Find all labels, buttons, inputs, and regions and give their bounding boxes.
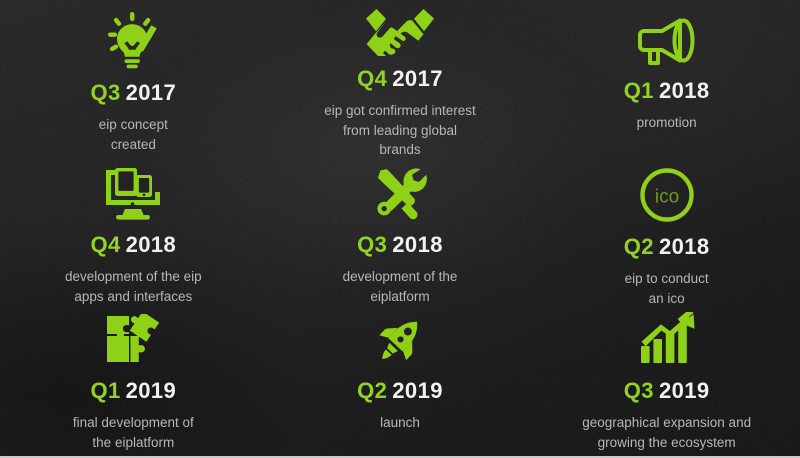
milestone-card[interactable]: Q42018 development of the eipapps and in… xyxy=(0,160,267,300)
quarter-code: Q4 xyxy=(90,232,120,257)
milestone-card[interactable]: Q42017 eip got confirmed interestfrom le… xyxy=(267,0,534,160)
quarter-year: 2019 xyxy=(126,378,177,403)
growth-chart-arrow-icon xyxy=(636,306,698,368)
quarter-year: 2017 xyxy=(126,80,177,105)
milestone-card[interactable]: Q32018 development of theeiplatform xyxy=(267,160,534,300)
milestone-quarter: Q32019 xyxy=(624,380,710,402)
milestone-quarter: Q32017 xyxy=(90,82,176,104)
quarter-code: Q4 xyxy=(357,66,387,91)
milestone-quarter: Q12019 xyxy=(90,380,176,402)
milestone-quarter: Q22019 xyxy=(357,380,443,402)
milestone-description: promotion xyxy=(637,113,697,133)
milestone-description: final development ofthe eiplatform xyxy=(73,413,194,452)
quarter-code: Q3 xyxy=(90,80,120,105)
milestone-quarter: Q22018 xyxy=(624,236,710,258)
milestone-description: geographical expansion andgrowing the ec… xyxy=(582,413,751,452)
quarter-year: 2018 xyxy=(659,78,710,103)
rocket-icon xyxy=(371,306,429,368)
milestone-card[interactable]: Q12019 final development ofthe eiplatfor… xyxy=(0,300,267,458)
milestone-quarter: Q12018 xyxy=(624,80,710,102)
quarter-year: 2018 xyxy=(392,232,443,257)
milestone-quarter: Q42017 xyxy=(357,68,443,90)
quarter-year: 2019 xyxy=(659,378,710,403)
handshake-icon xyxy=(363,2,437,56)
ico-circle-icon: ico xyxy=(638,166,696,224)
milestone-grid: Q32017 eip conceptcreated xyxy=(0,0,800,456)
milestone-quarter: Q32018 xyxy=(357,234,443,256)
lightbulb-pencil-icon xyxy=(102,8,164,70)
megaphone-icon xyxy=(634,6,700,68)
quarter-code: Q2 xyxy=(624,234,654,259)
milestone-description: launch xyxy=(380,413,420,433)
quarter-code: Q1 xyxy=(624,78,654,103)
quarter-code: Q1 xyxy=(90,378,120,403)
devices-monitor-icon xyxy=(102,166,164,222)
quarter-year: 2019 xyxy=(392,378,443,403)
quarter-code: Q2 xyxy=(357,378,387,403)
milestone-description: eip got confirmed interestfrom leading g… xyxy=(324,101,476,160)
milestone-card[interactable]: Q12018 promotion xyxy=(533,0,800,160)
milestone-card[interactable]: ico Q22018 eip to conductan ico xyxy=(533,160,800,300)
quarter-year: 2018 xyxy=(659,234,710,259)
milestone-card[interactable]: Q32019 geographical expansion andgrowing… xyxy=(533,300,800,458)
ico-circle-label: ico xyxy=(655,187,679,208)
roadmap-timeline: Q32017 eip conceptcreated xyxy=(0,0,800,458)
puzzle-pieces-icon xyxy=(103,306,163,368)
milestone-description: eip conceptcreated xyxy=(99,115,168,154)
quarter-year: 2018 xyxy=(126,232,177,257)
quarter-code: Q3 xyxy=(624,378,654,403)
quarter-code: Q3 xyxy=(357,232,387,257)
milestone-card[interactable]: Q32017 eip conceptcreated xyxy=(0,0,267,160)
quarter-year: 2017 xyxy=(392,66,443,91)
tools-wrench-screwdriver-icon xyxy=(371,166,429,222)
milestone-card[interactable]: Q22019 launch xyxy=(267,300,534,458)
milestone-quarter: Q42018 xyxy=(90,234,176,256)
